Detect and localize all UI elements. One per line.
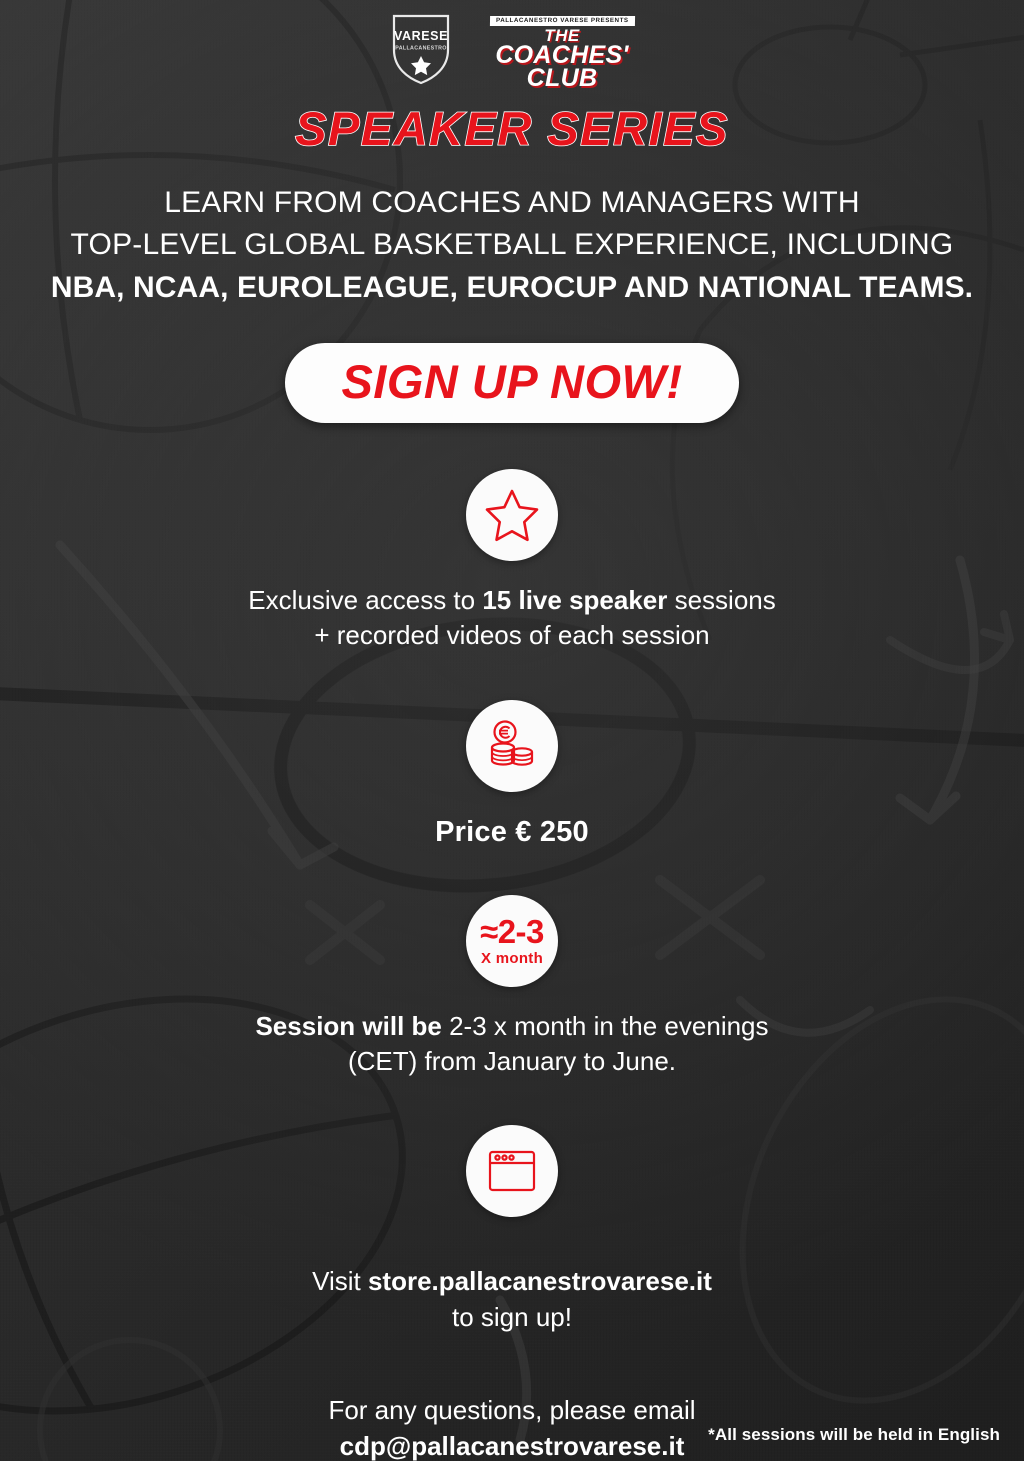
visit-prefix: Visit: [312, 1266, 368, 1296]
browser-window-icon: [484, 1143, 540, 1199]
cta-container: SIGN UP NOW!: [0, 343, 1024, 423]
contact-line-1: For any questions, please email: [0, 1392, 1024, 1428]
star-badge: [466, 469, 558, 561]
coaches-club-presents: PALLACANESTRO VARESE PRESENTS: [490, 16, 635, 26]
contact-email[interactable]: cdp@pallacanestrovarese.it: [0, 1428, 1024, 1461]
price-label: Price € 250: [0, 816, 1024, 849]
contact-block: For any questions, please email cdp@pall…: [0, 1392, 1024, 1461]
feature-website-text: Visit store.pallacanestrovarese.it to si…: [0, 1263, 1024, 1336]
tagline-line-3: NBA, NCAA, EUROLEAGUE, EUROCUP AND NATIO…: [0, 267, 1024, 310]
feature-sessions-line-2: + recorded videos of each session: [0, 618, 1024, 653]
coins-euro-icon: [483, 717, 541, 775]
feature-frequency-rest: 2-3 x month in the evenings: [442, 1011, 769, 1041]
frequency-badge-value: ≈2-3: [480, 915, 544, 948]
feature-frequency-text: Session will be 2-3 x month in the eveni…: [0, 1009, 1024, 1079]
frequency-badge-text: ≈2-3 X month: [480, 915, 544, 966]
sign-up-button-label: SIGN UP NOW!: [341, 358, 682, 405]
feature-frequency-line-1: Session will be 2-3 x month in the eveni…: [0, 1009, 1024, 1044]
feature-sessions-bold: 15 live speaker: [482, 585, 667, 615]
frequency-badge-unit: X month: [480, 951, 544, 966]
feature-sessions-line-1: Exclusive access to 15 live speaker sess…: [0, 583, 1024, 618]
feature-sessions-suffix: sessions: [667, 585, 775, 615]
poster-content: VARESE PALLACANESTRO PALLACANESTRO VARES…: [0, 0, 1024, 1461]
varese-shield-logo: VARESE PALLACANESTRO: [390, 10, 452, 86]
feature-website-line-2: to sign up!: [0, 1299, 1024, 1335]
coaches-club-logo: PALLACANESTRO VARESE PRESENTS THE COACHE…: [490, 16, 635, 91]
shield-star-icon: VARESE PALLACANESTRO: [390, 10, 452, 86]
store-url[interactable]: store.pallacanestrovarese.it: [368, 1266, 712, 1296]
sign-up-button[interactable]: SIGN UP NOW!: [285, 343, 738, 423]
poster-root: VARESE PALLACANESTRO PALLACANESTRO VARES…: [0, 0, 1024, 1461]
browser-badge: [466, 1125, 558, 1217]
feature-website: Visit store.pallacanestrovarese.it to si…: [0, 1125, 1024, 1336]
svg-text:VARESE: VARESE: [394, 29, 448, 43]
frequency-badge: ≈2-3 X month: [466, 895, 558, 987]
feature-sessions: Exclusive access to 15 live speaker sess…: [0, 469, 1024, 653]
coins-badge: [466, 700, 558, 792]
feature-price: Price € 250: [0, 700, 1024, 849]
feature-sessions-prefix: Exclusive access to: [248, 585, 482, 615]
feature-frequency-line-2: (CET) from January to June.: [0, 1044, 1024, 1079]
coaches-club-line-club: CLUB: [527, 67, 598, 91]
svg-text:PALLACANESTRO: PALLACANESTRO: [395, 46, 447, 52]
header-logos: VARESE PALLACANESTRO PALLACANESTRO VARES…: [0, 0, 1024, 91]
feature-frequency: ≈2-3 X month Session will be 2-3 x month…: [0, 895, 1024, 1079]
feature-sessions-text: Exclusive access to 15 live speaker sess…: [0, 583, 1024, 653]
tagline-line-2: TOP-LEVEL GLOBAL BASKETBALL EXPERIENCE, …: [0, 224, 1024, 267]
tagline: LEARN FROM COACHES AND MANAGERS WITH TOP…: [0, 182, 1024, 310]
tagline-line-1: LEARN FROM COACHES AND MANAGERS WITH: [0, 182, 1024, 225]
feature-frequency-bold: Session will be: [255, 1011, 441, 1041]
feature-website-line-1: Visit store.pallacanestrovarese.it: [0, 1263, 1024, 1299]
star-icon: [483, 486, 541, 544]
page-title: SPEAKER SERIES: [0, 105, 1024, 152]
